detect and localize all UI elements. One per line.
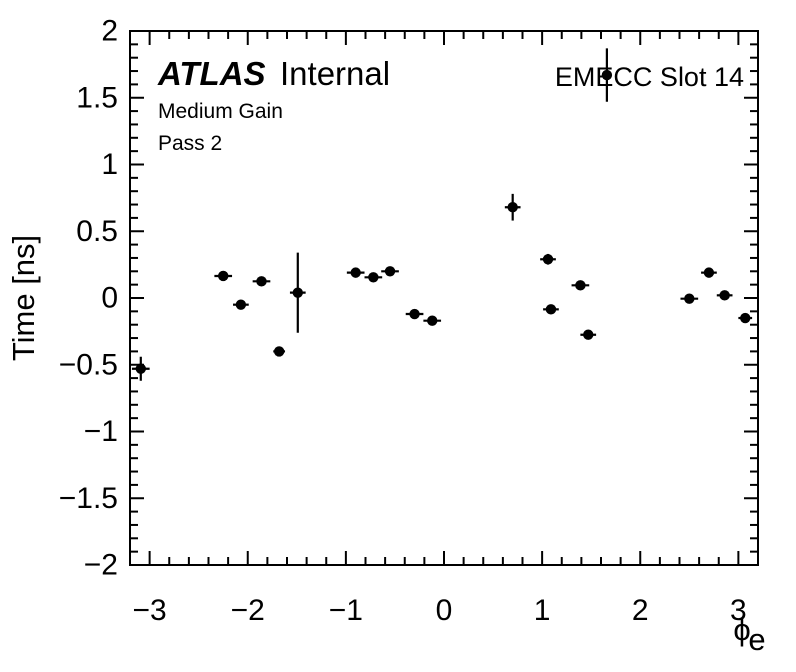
data-point [347, 267, 365, 277]
data-point-marker [236, 299, 246, 309]
data-point [701, 267, 717, 277]
slot-label: EMECC Slot 14 [555, 62, 744, 92]
x-tick-label: 1 [534, 594, 551, 627]
data-point-marker [350, 267, 360, 277]
data-point [540, 254, 556, 265]
y-tick-label: −1 [84, 415, 118, 448]
data-point-marker [719, 290, 729, 300]
data-point [381, 266, 399, 276]
y-tick-label: 0.5 [76, 215, 118, 248]
plot-canvas: −3−2−10123−2−1.5−1−0.500.511.52Time [ns]… [0, 0, 796, 672]
x-axis-title-subscript: e [748, 622, 765, 657]
data-point [738, 313, 752, 323]
data-point-marker [583, 330, 593, 340]
data-point-marker [427, 315, 437, 325]
data-point [406, 309, 424, 319]
data-point [290, 253, 306, 333]
data-point-marker [385, 266, 395, 276]
atlas-status-label: Internal [280, 55, 390, 92]
data-point-marker [293, 287, 303, 297]
y-tick-label: −2 [84, 549, 118, 582]
gain-label: Medium Gain [158, 100, 283, 123]
data-point-marker [136, 364, 146, 374]
data-point [214, 271, 232, 281]
y-axis-title: Time [ns] [6, 235, 41, 361]
y-tick-label: 1 [101, 148, 118, 181]
x-tick-label: 2 [632, 594, 649, 627]
scatter-plot-svg: −3−2−10123−2−1.5−1−0.500.511.52Time [ns]… [0, 0, 796, 672]
data-point-marker [368, 272, 378, 282]
data-series [132, 48, 752, 380]
data-point [233, 299, 249, 309]
y-tick-label: −1.5 [59, 482, 118, 515]
data-point-marker [409, 309, 419, 319]
data-point [423, 315, 441, 325]
data-point [717, 290, 733, 300]
data-point-marker [575, 280, 585, 290]
data-point [543, 304, 559, 314]
y-tick-label: −0.5 [59, 348, 118, 381]
data-point-marker [602, 70, 612, 80]
data-point [505, 194, 521, 221]
y-tick-label: 0 [101, 282, 118, 315]
y-tick-label: 2 [101, 15, 118, 48]
data-point-marker [740, 313, 750, 323]
x-tick-label: 0 [436, 594, 453, 627]
data-point [572, 280, 590, 290]
x-tick-label: −2 [231, 594, 265, 627]
data-point [253, 276, 271, 286]
data-point-marker [546, 304, 556, 314]
data-point-marker [507, 202, 517, 212]
x-tick-label: −3 [133, 594, 167, 627]
data-point [365, 272, 383, 282]
pass-label: Pass 2 [158, 132, 222, 155]
data-point [273, 346, 285, 356]
data-point-marker [274, 346, 284, 356]
y-tick-label: 1.5 [76, 81, 118, 114]
data-point-marker [543, 254, 553, 264]
data-point-marker [684, 293, 694, 303]
data-point [580, 330, 596, 340]
data-point [602, 48, 612, 101]
data-point-marker [256, 276, 266, 286]
data-point [680, 293, 698, 303]
data-point-marker [218, 271, 228, 281]
x-tick-label: −1 [329, 594, 363, 627]
atlas-label: ATLAS [157, 55, 266, 92]
data-point-marker [704, 267, 714, 277]
